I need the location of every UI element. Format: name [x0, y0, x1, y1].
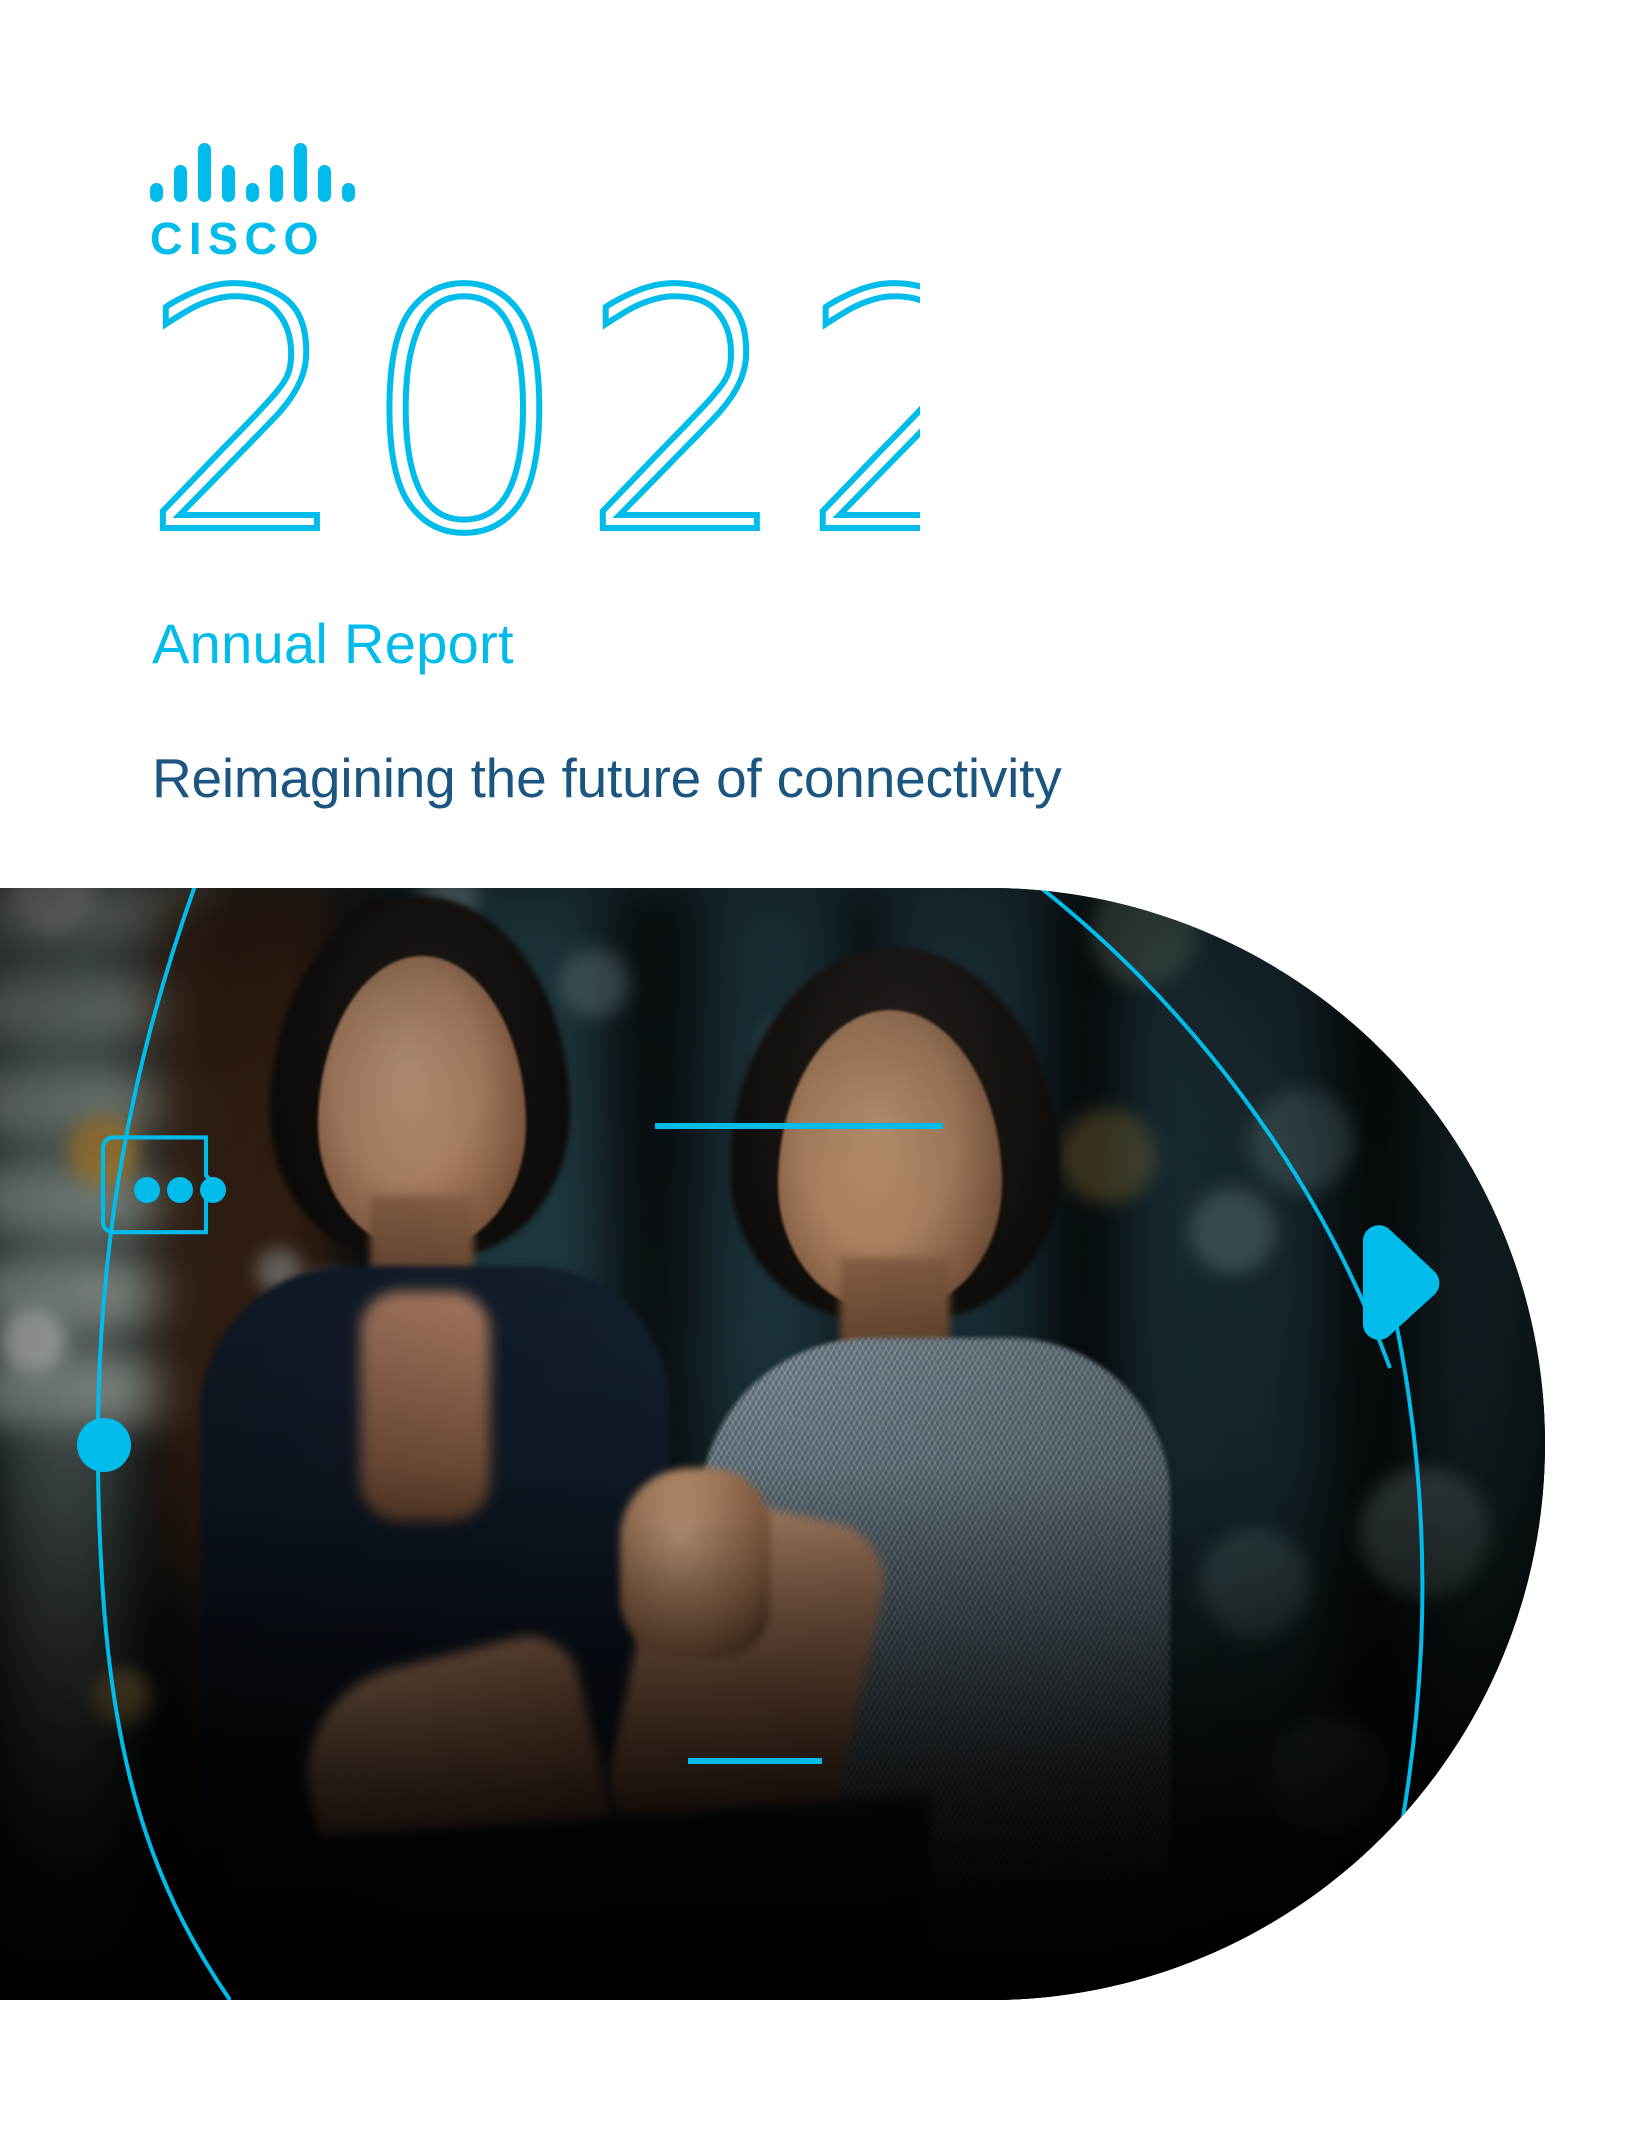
- cover-subtitle: Annual Report: [152, 613, 514, 675]
- hero-photograph: [0, 888, 1545, 2000]
- cover-tagline: Reimagining the future of connectivity: [152, 748, 1062, 809]
- cisco-logo: CISCO: [150, 140, 360, 261]
- cover-year: 2022: [140, 276, 920, 576]
- cover-year-text: 2022: [140, 276, 920, 576]
- report-cover-page: CISCO 2022 Annual Report Reimagining the…: [0, 0, 1650, 2150]
- hero-image: [0, 888, 1545, 2000]
- cisco-bars-logo: [150, 140, 355, 202]
- cisco-wordmark: CISCO: [150, 216, 360, 261]
